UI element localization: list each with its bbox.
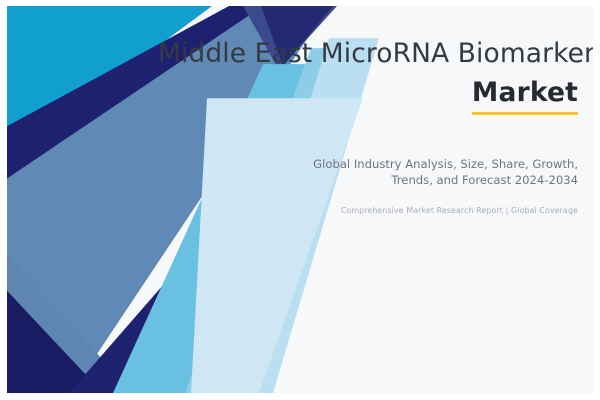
cover-title-block: Middle East MicroRNA Biomarker Market xyxy=(158,38,578,115)
page-title-line-1: Middle East MicroRNA Biomarker xyxy=(158,38,578,69)
page-title-line-2: Market xyxy=(472,78,578,115)
subtitle-line-2: Trends, and Forecast 2024-2034 xyxy=(158,172,578,188)
report-cover-page: Middle East MicroRNA Biomarker Market Gl… xyxy=(0,0,600,400)
cover-subtitle-block: Global Industry Analysis, Size, Share, G… xyxy=(158,156,578,217)
subtitle-line-1: Global Industry Analysis, Size, Share, G… xyxy=(158,156,578,172)
cover-content: Middle East MicroRNA Biomarker Market Gl… xyxy=(7,6,593,393)
cover-frame: Middle East MicroRNA Biomarker Market Gl… xyxy=(0,0,600,400)
page-title-line-2-wrapper: Market xyxy=(158,78,578,115)
cover-tagline: Comprehensive Market Research Report | G… xyxy=(158,206,578,217)
cover-canvas: Middle East MicroRNA Biomarker Market Gl… xyxy=(7,6,593,393)
